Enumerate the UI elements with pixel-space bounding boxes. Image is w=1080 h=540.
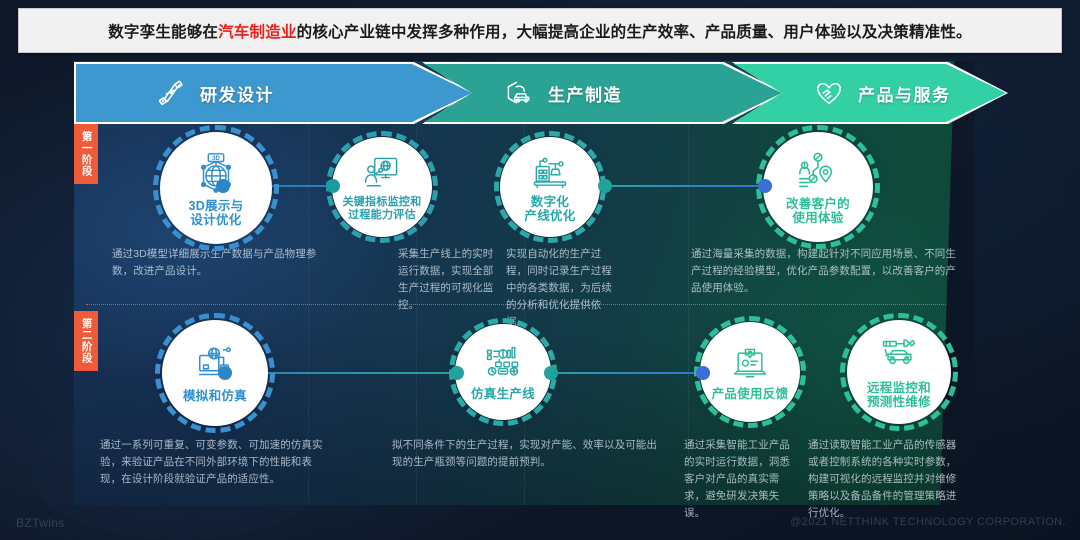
node-r1-c2[interactable]: 关键指标监控和 过程能力评估: [332, 137, 432, 237]
node-r1-c2-circle[interactable]: 关键指标监控和 过程能力评估: [332, 137, 432, 237]
node-r1-c2-desc: 采集生产线上的实时运行数据，实现全部生产过程的可视化监控。: [398, 246, 500, 314]
title-highlight: 汽车制造业: [218, 24, 297, 41]
title-prefix: 数字孪生能够在: [108, 24, 218, 41]
connector-dot-r1-c: [598, 179, 612, 193]
node-r2-c4-ring: [840, 313, 958, 431]
connector-dot-r1-a: [216, 179, 230, 193]
connector-dot-r2-b: [450, 366, 464, 380]
node-r2-c3[interactable]: 产品使用反馈: [700, 322, 800, 422]
node-r1-c4-desc: 通过海量采集的数据，构建起针对不同应用场景、不同生产过程的经验模型，优化产品参数…: [691, 246, 963, 297]
connector-dot-r2-d: [696, 366, 710, 380]
footer-copyright: @2021 NETTHINK TECHNOLOGY CORPORATION.: [790, 516, 1066, 528]
footer-brand: BZTwins: [16, 516, 65, 530]
page-title: 数字孪生能够在汽车制造业的核心产业链中发挥多种作用，大幅提高企业的生产效率、产品…: [108, 20, 972, 42]
connector-r1-n3-n4: [604, 185, 764, 187]
node-r2-c1-circle[interactable]: 模拟和仿真: [162, 320, 268, 426]
process-arrow-band: 研发设计 生产制造 产品与服务: [74, 62, 1008, 124]
stage-badge-phase-1: 第一阶段: [74, 124, 98, 184]
connector-dot-r2-a: [218, 366, 232, 380]
headline-banner: 数字孪生能够在汽车制造业的核心产业链中发挥多种作用，大幅提高企业的生产效率、产品…: [18, 8, 1062, 53]
handshake-heart-icon: [814, 78, 844, 108]
node-r1-c1-desc: 通过3D模型详细展示生产数据与产品物理参数，改进产品设计。: [112, 246, 334, 280]
node-r1-c4[interactable]: 改善客户的 使用体验: [763, 132, 873, 242]
arrow-stage-manufacturing[interactable]: 生产制造: [422, 62, 784, 124]
node-r2-c1[interactable]: 模拟和仿真: [162, 320, 268, 426]
title-suffix: 的核心产业链中发挥多种作用，大幅提高企业的生产效率、产品质量、用户体验以及决策精…: [297, 24, 972, 41]
arrow-1-fill: [76, 64, 472, 122]
node-r2-c2-desc: 拟不同条件下的生产过程，实现对产能、效率以及可能出现的生产瓶颈等问题的提前预判。: [392, 437, 664, 471]
arrow-2-label: 生产制造: [548, 81, 622, 106]
node-r1-c2-ring: [326, 131, 438, 243]
node-r2-c2[interactable]: 仿真生产线: [455, 324, 551, 420]
node-r1-c3-circle[interactable]: 数字化 产线优化: [500, 137, 600, 237]
node-r2-c2-ring: [449, 318, 557, 426]
node-r1-c4-circle[interactable]: 改善客户的 使用体验: [763, 132, 873, 242]
connector-dot-r1-d: [758, 179, 772, 193]
stage-badge-phase-2: 第二阶段: [74, 311, 98, 371]
node-r2-c1-desc: 通过一系列可重复、可变参数、可加速的仿真实验，来验证产品在不同外部环境下的性能和…: [100, 437, 332, 488]
node-r2-c2-circle[interactable]: 仿真生产线: [455, 324, 551, 420]
node-r1-c3[interactable]: 数字化 产线优化: [500, 137, 600, 237]
drafting-compass-icon: [156, 78, 186, 108]
node-r2-c4-desc: 通过读取智能工业产品的传感器或者控制系统的各种实时参数，构建可视化的远程监控并对…: [808, 437, 964, 522]
node-r1-c3-ring: [494, 131, 606, 243]
connector-dot-r2-c: [544, 366, 558, 380]
arrow-1-label: 研发设计: [200, 81, 274, 106]
node-r2-c1-ring: [155, 313, 275, 433]
node-r2-c3-ring: [694, 316, 806, 428]
node-r1-c3-desc: 实现自动化的生产过程，同时记录生产过程中的各类数据，为后续的分析和优化提供依据。: [506, 246, 614, 331]
connector-dot-r1-b: [326, 179, 340, 193]
node-r2-c3-desc: 通过采集智能工业产品的实时运行数据，洞悉客户对产品的真实需求，避免研发决策失误。: [684, 437, 798, 522]
node-r1-c4-ring: [756, 125, 880, 249]
node-r2-c4[interactable]: 远程监控和 预测性维修: [847, 320, 951, 424]
arrow-3-label: 产品与服务: [858, 81, 951, 106]
node-r2-c3-circle[interactable]: 产品使用反馈: [700, 322, 800, 422]
connector-r2-n2-n3: [550, 372, 702, 374]
node-r2-c4-circle[interactable]: 远程监控和 预测性维修: [847, 320, 951, 424]
car-shield-icon: [504, 78, 534, 108]
arrow-stage-rd-design[interactable]: 研发设计: [74, 62, 474, 124]
